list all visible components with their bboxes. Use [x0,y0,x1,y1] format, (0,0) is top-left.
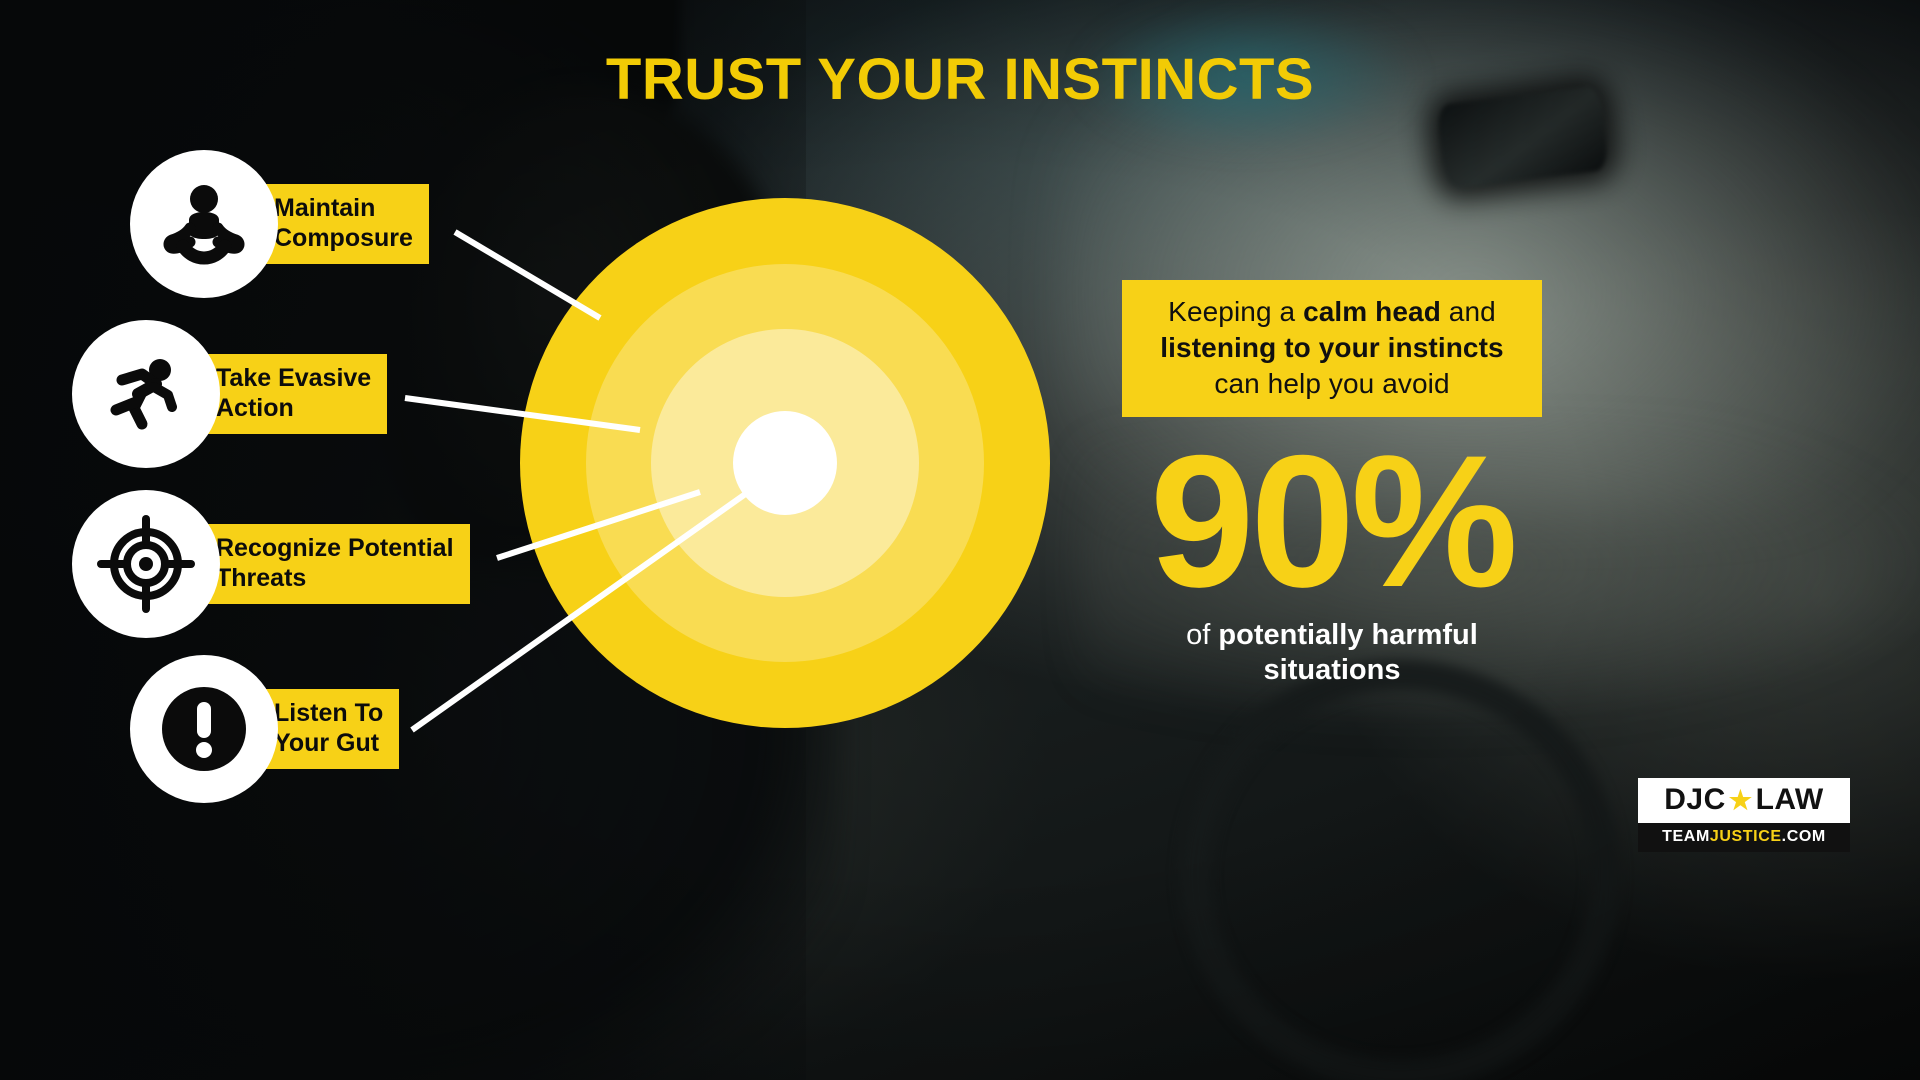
running-person-icon [72,320,220,468]
logo-name-right: LAW [1756,783,1824,817]
stat-big-number: 90% [1122,431,1542,611]
brand-logo[interactable]: DJC★LAW TEAMJUSTICE.COM [1638,778,1850,852]
list-item-label: Maintain Composure [252,184,429,264]
logo-url-3: .COM [1782,828,1826,845]
stat-panel: Keeping a calm head and listening to you… [1122,280,1542,689]
stat-sub-1: of [1186,619,1218,651]
stat-lead-2: and [1441,296,1496,327]
logo-url: TEAMJUSTICE.COM [1638,823,1850,852]
list-item[interactable]: Maintain Composure [130,150,429,298]
stat-lead-3-bold: listening to your instincts [1160,332,1503,363]
logo-name-left: DJC [1664,783,1726,817]
list-item[interactable]: Listen To Your Gut [130,655,399,803]
list-item-label: Recognize Potential Threats [194,524,470,604]
list-item[interactable]: Recognize Potential Threats [72,490,470,638]
concentric-target-graphic [520,198,1050,728]
star-icon: ★ [1729,787,1753,813]
page-title: TRUST YOUR INSTINCTS [0,46,1920,113]
meditation-icon [130,150,278,298]
target-ring-center [733,411,837,515]
list-item[interactable]: Take Evasive Action [72,320,387,468]
crosshair-target-icon [72,490,220,638]
stat-lead-1: Keeping a [1168,296,1303,327]
logo-url-1: TEAM [1662,828,1710,845]
stat-lead-1-bold: calm head [1303,296,1441,327]
list-item-label: Take Evasive Action [194,354,387,434]
exclamation-mark-icon [130,655,278,803]
stat-lead-4: can help you avoid [1214,368,1449,399]
logo-url-2: JUSTICE [1710,828,1782,845]
logo-wordmark: DJC★LAW [1638,778,1850,823]
stat-description-box: Keeping a calm head and listening to you… [1122,280,1542,417]
stat-sub-bold: potentially harmful situations [1218,619,1477,686]
stat-subtext: of potentially harmful situations [1122,618,1542,689]
